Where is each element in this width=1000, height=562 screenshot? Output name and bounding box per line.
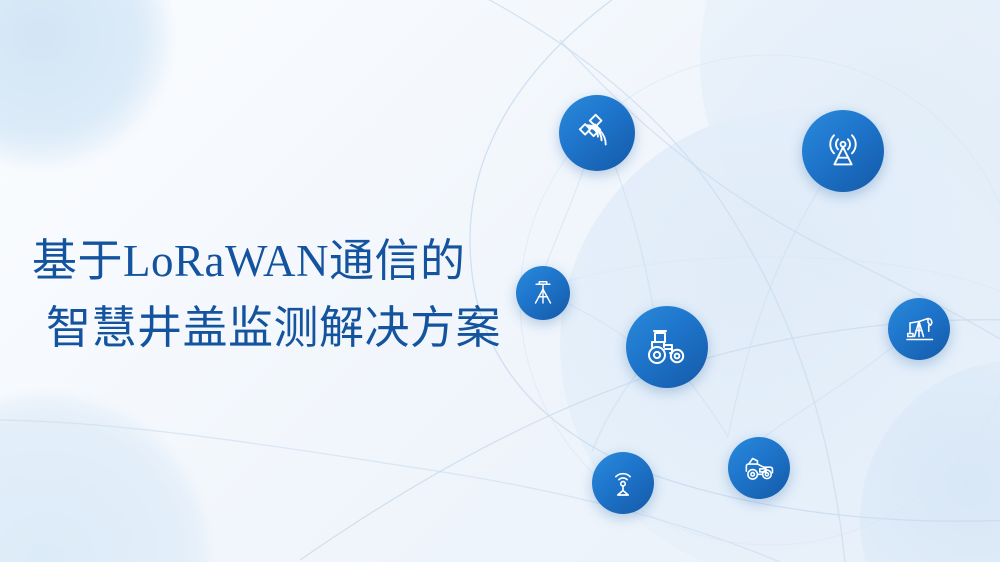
node-harvester[interactable] [728,437,790,499]
node-radio-tower[interactable] [802,110,884,192]
node-wireless-sensor[interactable] [592,452,654,514]
decor-blob-corner [860,360,1000,562]
oil-pumpjack-icon [901,311,937,347]
slide-title: 基于LoRaWAN通信的 智慧井盖监测解决方案 [32,228,501,361]
radio-tower-icon [820,128,866,174]
title-line-1: 基于LoRaWAN通信的 [32,228,501,295]
title-line-2: 智慧井盖监测解决方案 [32,295,501,362]
harvester-icon [740,449,778,487]
wireless-sensor-icon [605,465,641,501]
survey-tripod-icon [528,278,558,308]
node-survey-tripod[interactable] [516,266,570,320]
slide-canvas: 基于LoRaWAN通信的 智慧井盖监测解决方案 [0,0,1000,562]
satellite-icon [575,111,619,155]
tractor-icon [643,323,691,371]
decor-blob-bottom-left [0,395,210,562]
node-oil-pumpjack[interactable] [888,298,950,360]
decor-blob-top-left [0,0,170,165]
node-tractor[interactable] [626,306,708,388]
node-satellite[interactable] [559,95,635,171]
